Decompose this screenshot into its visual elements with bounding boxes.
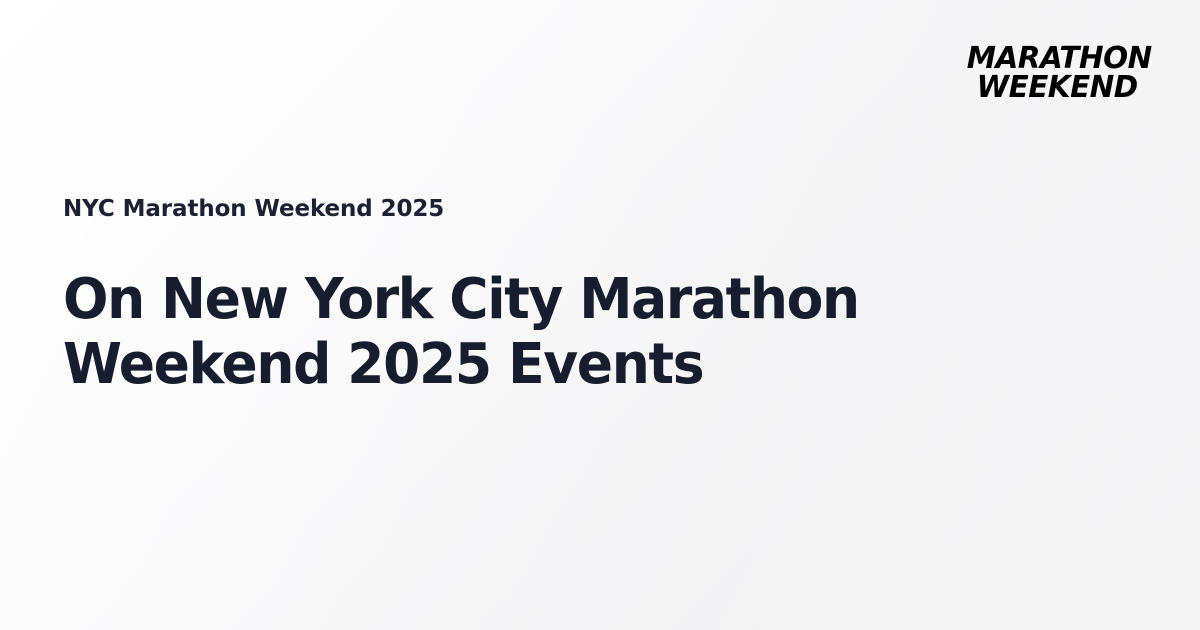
- page-title-line-2: Weekend 2025 Events: [63, 332, 923, 397]
- brand-logo-line-marathon: MARATHON: [967, 45, 1152, 73]
- page-title-line-1: On New York City Marathon: [63, 267, 923, 332]
- brand-logo-line-weekend: WEEKEND: [967, 74, 1138, 102]
- social-share-card: MARATHON WEEKEND NYC Marathon Weekend 20…: [0, 0, 1200, 630]
- hero-content: NYC Marathon Weekend 2025 On New York Ci…: [63, 196, 963, 397]
- hero-eyebrow: NYC Marathon Weekend 2025: [63, 196, 963, 222]
- brand-logo[interactable]: MARATHON WEEKEND: [963, 45, 1152, 102]
- page-title: On New York City Marathon Weekend 2025 E…: [63, 267, 923, 397]
